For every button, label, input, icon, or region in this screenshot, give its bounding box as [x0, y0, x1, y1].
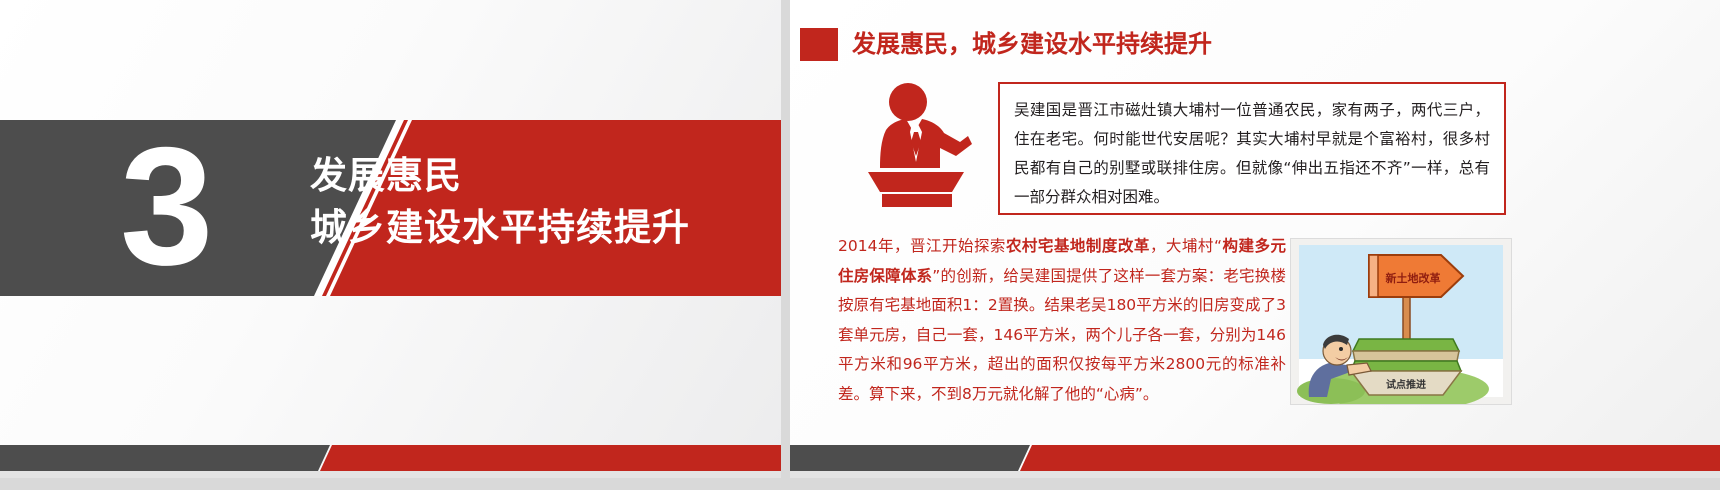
section-number: 3 — [120, 118, 211, 294]
cartoon-sign-label: 新土地改革 — [1386, 271, 1441, 285]
section-title-line-2: 城乡建设水平持续提升 — [310, 202, 740, 254]
quote-callout-box: 吴建国是晋江市磁灶镇大埔村一位普通农民，家有两子，两代三户，住在老宅。何时能世代… — [998, 82, 1506, 215]
left-slide-bottom-edge — [0, 471, 781, 478]
cartoon-ground-label: 试点推进 — [1386, 378, 1426, 391]
para-segment-7: 的创新，给吴建国提供了这样一套方案：老宅换楼按原有宅基地面积1：2置换。结果老吴… — [838, 267, 1286, 403]
right-slide-bottom-edge — [790, 471, 1720, 478]
slide-content[interactable]: 发展惠民，城乡建设水平持续提升 吴建国是晋江市磁灶镇大埔村一位普通农民，家有两子… — [790, 0, 1720, 478]
right-footer-gray-bar — [790, 445, 1030, 471]
cartoon-illustration: 新土地改革 试点推进 — [1290, 238, 1512, 405]
para-segment-3: ，大埔村 — [1150, 237, 1214, 255]
body-paragraph: 2014年，晋江开始探索农村宅基地制度改革，大埔村“构建多元住房保障体系”的创新… — [838, 232, 1286, 409]
left-footer-gray-bar — [0, 445, 330, 471]
header-square-marker — [800, 28, 838, 61]
section-title-line-1: 发展惠民 — [310, 150, 740, 202]
quote-text: 吴建国是晋江市磁灶镇大埔村一位普通农民，家有两子，两代三户，住在老宅。何时能世代… — [1000, 84, 1504, 212]
slide-gutter — [781, 0, 790, 490]
speaker-podium-icon — [856, 80, 976, 210]
slide-thumbnail-stage: 3 发展惠民 城乡建设水平持续提升 发展惠民，城乡建设水平持续提升 — [0, 0, 1720, 490]
page-title: 发展惠民，城乡建设水平持续提升 — [852, 28, 1212, 61]
section-title: 发展惠民 城乡建设水平持续提升 — [310, 150, 740, 254]
para-quote-open: “ — [1214, 237, 1222, 255]
slide-section-divider[interactable]: 3 发展惠民 城乡建设水平持续提升 — [0, 0, 781, 478]
para-segment-1: 2014年，晋江开始探索 — [838, 237, 1006, 255]
para-emphasis-policy: 农村宅基地制度改革 — [1006, 237, 1150, 255]
